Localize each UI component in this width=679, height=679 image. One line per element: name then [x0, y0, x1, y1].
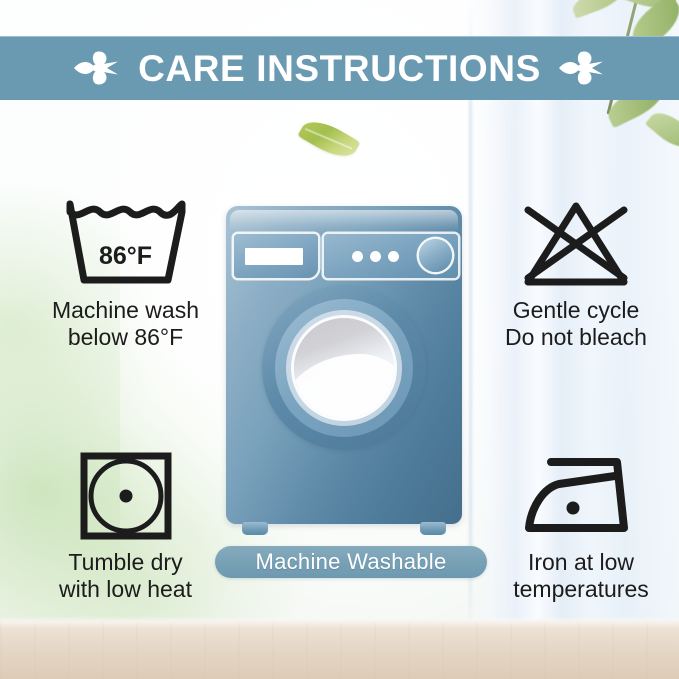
care-symbol-tumble-dry: Tumble dry with low heat — [18, 450, 233, 603]
washing-machine-illustration — [226, 206, 462, 536]
care-symbol-caption: Tumble dry with low heat — [59, 549, 192, 603]
iron-icon — [521, 450, 641, 542]
machine-door — [262, 286, 426, 450]
machine-foot — [420, 522, 446, 535]
tumble-dry-square-icon — [74, 450, 178, 542]
machine-washable-badge: Machine Washable — [215, 546, 487, 578]
leaf-icon — [569, 0, 627, 19]
machine-door-inner-ring — [286, 310, 402, 426]
fleur-de-lis-icon — [559, 48, 605, 88]
detergent-drawer-slot — [245, 248, 303, 265]
machine-body — [226, 206, 462, 524]
care-instructions-infographic: CARE INSTRUCTIONS 86°F Machine wash belo… — [0, 0, 679, 679]
door-glass-highlight — [294, 354, 394, 418]
machine-foot — [242, 522, 268, 535]
control-knob — [419, 239, 452, 272]
care-symbol-iron: Iron at low temperatures — [490, 450, 672, 603]
machine-top-strip — [230, 210, 458, 232]
care-symbol-machine-wash: 86°F Machine wash below 86°F — [18, 198, 233, 351]
badge-label: Machine Washable — [255, 549, 446, 575]
control-panel — [324, 234, 458, 278]
indicator-dot-icon — [370, 251, 381, 262]
machine-door-ring — [275, 299, 413, 437]
header-banner: CARE INSTRUCTIONS — [0, 36, 679, 100]
care-symbol-caption: Machine wash below 86°F — [52, 297, 199, 351]
fleur-de-lis-icon — [74, 48, 120, 88]
indicator-dot-icon — [352, 251, 363, 262]
care-symbol-caption: Gentle cycle Do not bleach — [505, 297, 647, 351]
machine-door-glass — [294, 318, 394, 418]
detergent-drawer — [234, 234, 318, 278]
banner-title: CARE INSTRUCTIONS — [138, 50, 541, 87]
care-symbol-caption: Iron at low temperatures — [513, 549, 649, 603]
wooden-table-surface — [0, 621, 679, 679]
crossed-triangle-icon — [512, 198, 640, 290]
wash-temperature-value: 86°F — [62, 242, 190, 271]
care-symbol-do-not-bleach: Gentle cycle Do not bleach — [480, 198, 672, 351]
wash-tub-wrapper: 86°F — [62, 198, 190, 290]
indicator-dot-icon — [388, 251, 399, 262]
leaf-icon — [645, 105, 679, 154]
